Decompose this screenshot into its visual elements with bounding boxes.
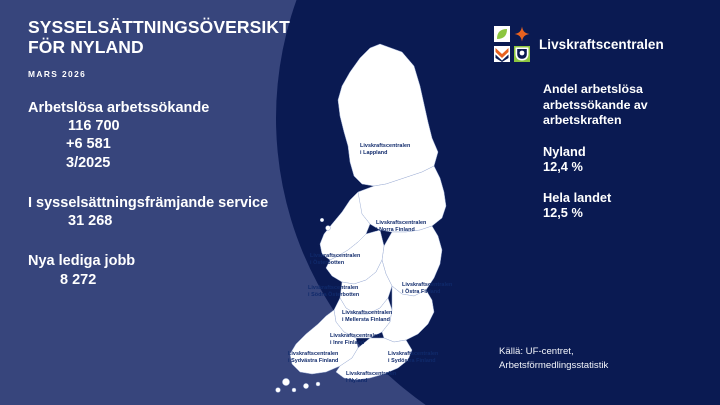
right-panel-heading: Andel arbetslösa arbetssökande av arbets… (543, 82, 718, 129)
map-label-line2: i Lappland (360, 150, 410, 157)
rate-group-nyland: Nyland 12,4 % (543, 144, 718, 175)
map-label-line1: Livskraftscentralen (310, 253, 360, 260)
rate-label: Nyland (543, 144, 718, 160)
stat-value: 31 268 (28, 212, 308, 230)
map-label-lappland: Livskraftscentralen i Lappland (360, 143, 410, 157)
rate-value: 12,4 % (543, 159, 718, 175)
map-label-line2: i Inre Finland (330, 340, 380, 347)
left-content-column: SYSSELSÄTTNINGSÖVERSIKT FÖR NYLAND MARS … (28, 18, 308, 289)
map-label-mellersta-finland: Livskraftscentralen i Mellersta Finland (342, 310, 392, 324)
stat-value-period: 3/2025 (28, 154, 308, 172)
map-label-line1: Livskraftscentralen (330, 333, 380, 340)
stat-value: 8 272 (28, 271, 308, 289)
map-label-line2: i Nyland (346, 378, 396, 385)
map-label-line2: i Mellersta Finland (342, 317, 392, 324)
map-label-norra-finland: Livskraftscentralen i Norra Finland (376, 220, 426, 234)
map-label-sydvastra-finland: Livskraftscentralen i Sydvästra Finland (288, 351, 338, 365)
map-label-inre-finland: Livskraftscentralen i Inre Finland (330, 333, 380, 347)
stat-label: Arbetslösa arbetssökande (28, 99, 308, 117)
source-note: Källä: UF-centret, Arbetsförmedlingsstat… (499, 345, 659, 372)
stat-value: 116 700 (28, 117, 308, 135)
logo-tile-leaf-icon (494, 26, 510, 42)
map-label-nyland: Livskraftscentralen i Nyland (346, 371, 396, 385)
stat-label: I sysselsättningsfrämjande service (28, 194, 308, 212)
stat-label: Nya lediga jobb (28, 252, 308, 270)
rate-value: 12,5 % (543, 205, 718, 221)
map-label-line2: i Norra Finland (376, 227, 426, 234)
rate-label: Hela landet (543, 190, 718, 206)
brand-logo-row: Livskraftscentralen (494, 26, 664, 62)
map-label-line2: i Östra Finland (402, 289, 452, 296)
page-title: SYSSELSÄTTNINGSÖVERSIKT FÖR NYLAND (28, 18, 308, 58)
map-label-osterbotten: Livskraftscentralen i Österbotten (310, 253, 360, 267)
map-label-line1: Livskraftscentralen (342, 310, 392, 317)
map-label-sydostra-finland: Livskraftscentralen i Sydöstra Finland (388, 351, 438, 365)
map-label-line1: Livskraftscentralen (346, 371, 396, 378)
map-label-line2: i Sydvästra Finland (288, 358, 338, 365)
page-subtitle: MARS 2026 (28, 69, 308, 79)
stat-block-service: I sysselsättningsfrämjande service 31 26… (28, 194, 308, 231)
map-label-line1: Livskraftscentralen (402, 282, 452, 289)
stat-block-nya-jobb: Nya lediga jobb 8 272 (28, 252, 308, 289)
livskraftscentralen-logo-icon (494, 26, 530, 62)
right-stats-panel: Andel arbetslösa arbetssökande av arbets… (543, 82, 718, 221)
logo-tile-chevrons-icon (494, 46, 510, 62)
map-label-ostra-finland: Livskraftscentralen i Östra Finland (402, 282, 452, 296)
stat-value-change: +6 581 (28, 135, 308, 153)
map-label-line1: Livskraftscentralen (288, 351, 338, 358)
rate-group-hela-landet: Hela landet 12,5 % (543, 190, 718, 221)
logo-tile-spark-icon (514, 26, 530, 42)
map-label-line2: i Södra Österbotten (308, 292, 359, 299)
map-label-sodra-osterbotten: Livskraftscentralen i Södra Österbotten (308, 285, 359, 299)
stat-block-arbetslosa: Arbetslösa arbetssökande 116 700 +6 581 … (28, 99, 308, 172)
map-label-line2: i Sydöstra Finland (388, 358, 438, 365)
map-label-line1: Livskraftscentralen (376, 220, 426, 227)
logo-tile-shield-icon (514, 46, 530, 62)
infographic-canvas: Livskraftscentralen i Lappland Livskraft… (0, 0, 720, 405)
map-label-line1: Livskraftscentralen (308, 285, 359, 292)
map-label-line1: Livskraftscentralen (388, 351, 438, 358)
map-label-line1: Livskraftscentralen (360, 143, 410, 150)
map-label-line2: i Österbotten (310, 260, 360, 267)
brand-name: Livskraftscentralen (539, 37, 664, 52)
